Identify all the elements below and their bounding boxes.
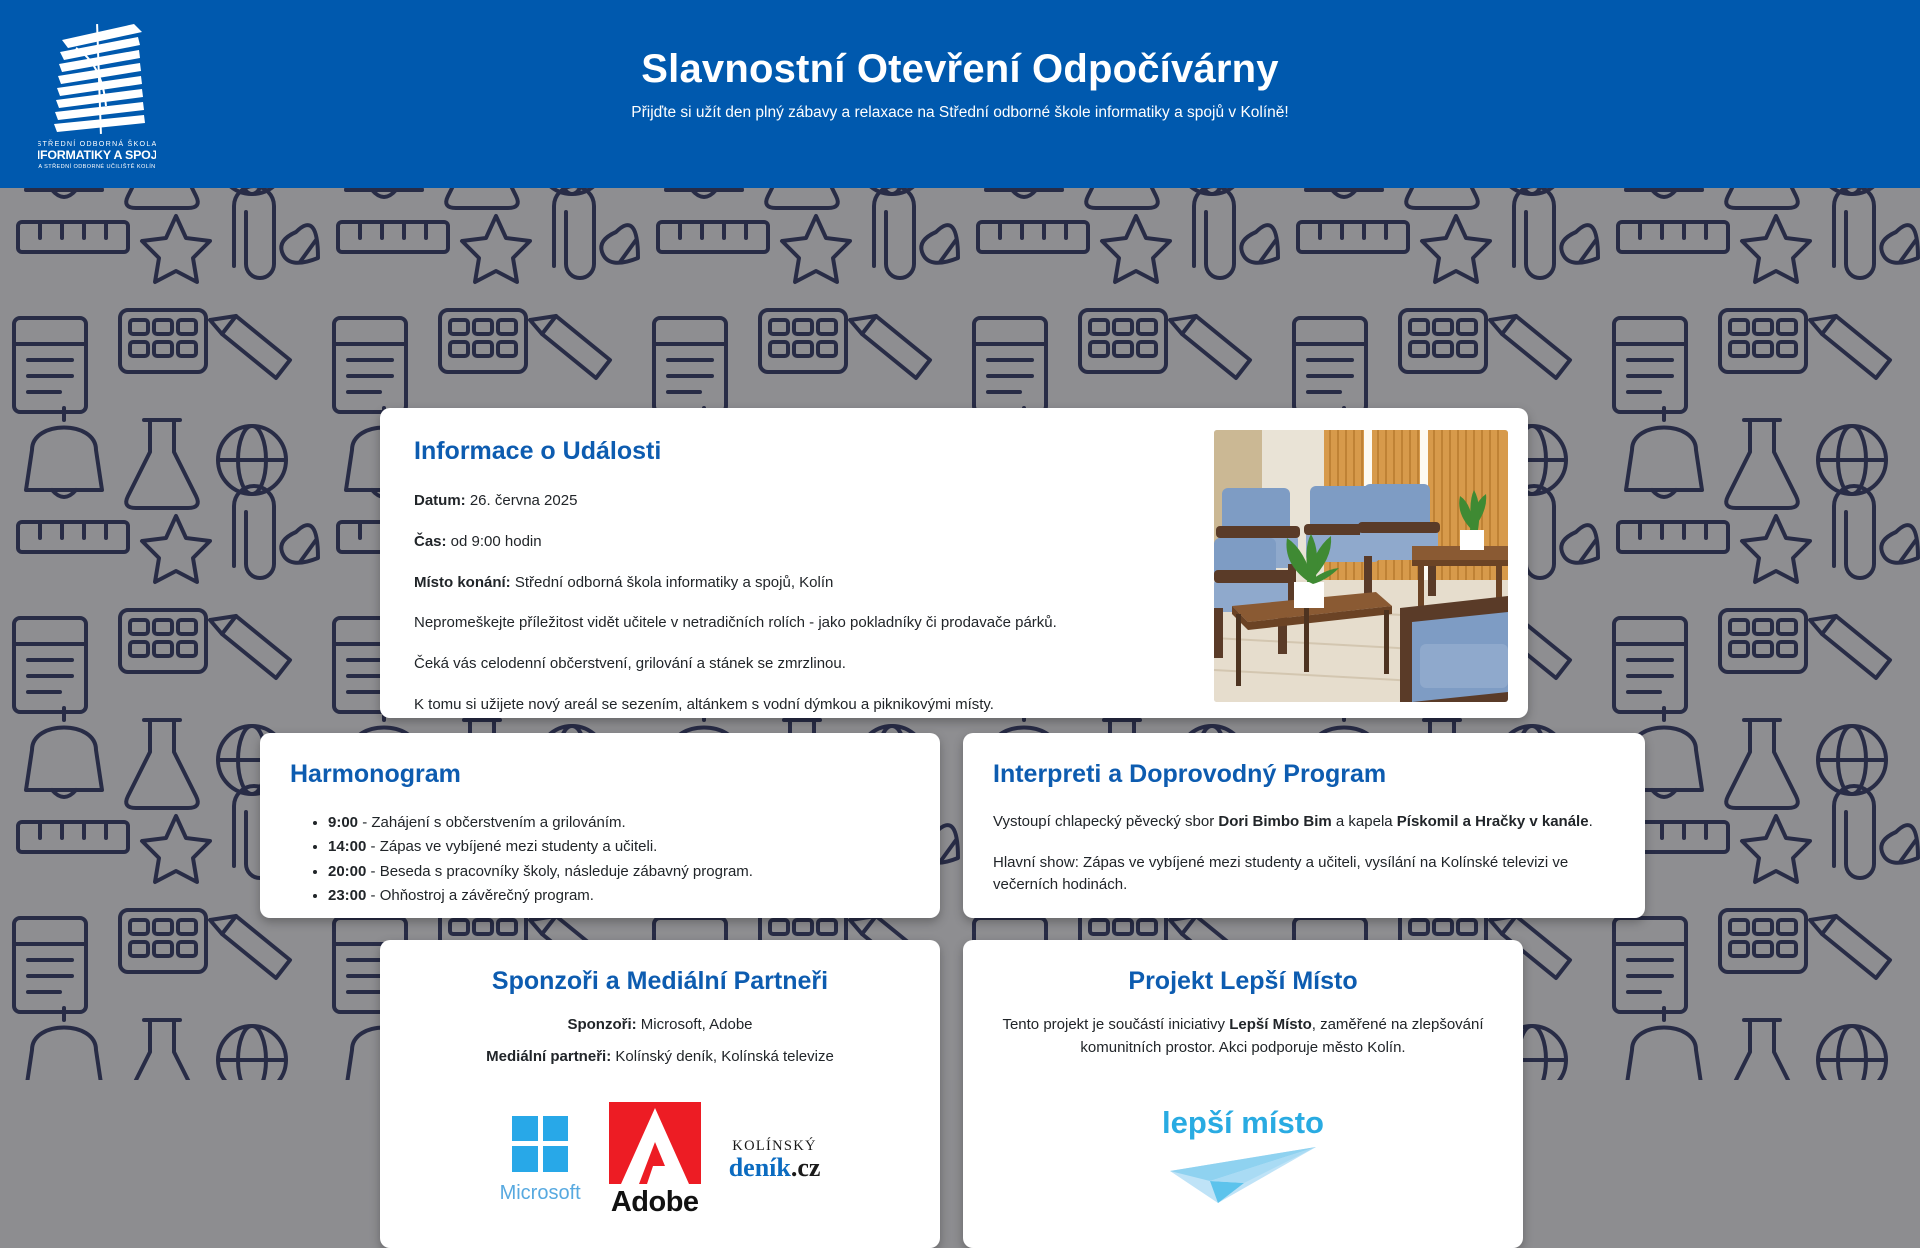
card-project-heading: Projekt Lepší Místo <box>997 966 1489 996</box>
sponsor-logo-row: Microsoft Adobe KOLÍNSKÝ deník.cz <box>410 1102 910 1219</box>
kolinsky-denik-word: deník <box>729 1153 791 1182</box>
schedule-time: 14:00 <box>328 838 366 855</box>
schedule-list: 9:00 - Zahájení s občerstvením a grilová… <box>290 811 910 908</box>
schedule-text: - Ohňostroj a závěrečný program. <box>366 887 594 904</box>
media-partners-value: Kolínský deník, Kolínská televize <box>611 1048 834 1065</box>
schedule-text: - Beseda s pracovníky školy, následuje z… <box>366 863 753 880</box>
microsoft-squares-icon <box>512 1116 568 1172</box>
schedule-time: 23:00 <box>328 887 366 904</box>
event-date-label: Datum: <box>414 492 466 509</box>
event-info-text: Datum: 26. června 2025 Čas: od 9:00 hodi… <box>414 490 1234 716</box>
card-sponsors-heading: Sponzoři a Mediální Partneři <box>410 966 910 996</box>
logo-line-2: INFORMATIKY A SPOJŮ <box>38 146 156 162</box>
kolinsky-denik-tld: .cz <box>791 1153 821 1182</box>
lounge-photo <box>1214 430 1508 702</box>
adobe-logo[interactable]: Adobe <box>609 1102 701 1219</box>
school-logo[interactable]: STŘEDNÍ ODBORNÁ ŠKOLA INFORMATIKY A SPOJ… <box>38 12 156 177</box>
performers-text-a: Vystoupí chlapecký pěvecký sbor <box>993 813 1218 830</box>
schedule-text: - Zápas ve vybíjené mezi studenty a učit… <box>366 838 657 855</box>
performers-text-e: . <box>1589 813 1593 830</box>
card-project: Projekt Lepší Místo Tento projekt je sou… <box>963 940 1523 1248</box>
event-date-row: Datum: 26. června 2025 <box>414 490 1234 512</box>
page-title: Slavnostní Otevření Odpočívárny <box>641 46 1279 92</box>
lepsi-misto-logo[interactable]: lepší místo <box>997 1099 1489 1209</box>
card-schedule: Harmonogram 9:00 - Zahájení s občerstven… <box>260 733 940 918</box>
performers-band-name: Pískomil a Hračky v kanále <box>1397 813 1589 830</box>
event-paragraph-3: K tomu si užijete nový areál se sezením,… <box>414 694 1234 716</box>
performers-choir-name: Dori Bimbo Bim <box>1218 813 1331 830</box>
project-description: Tento projekt je součástí iniciativy Lep… <box>997 1014 1489 1059</box>
card-performers: Interpreti a Doprovodný Program Vystoupí… <box>963 733 1645 918</box>
event-time-label: Čas: <box>414 533 447 550</box>
card-sponsors: Sponzoři a Mediální Partneři Sponzoři: M… <box>380 940 940 1248</box>
performers-text-c: a kapela <box>1332 813 1397 830</box>
lepsi-misto-link[interactable]: Lepší Místo <box>1229 1016 1312 1033</box>
list-item: 14:00 - Zápas ve vybíjené mezi studenty … <box>328 835 910 859</box>
event-venue-row: Místo konání: Střední odborná škola info… <box>414 572 1234 594</box>
card-performers-heading: Interpreti a Doprovodný Program <box>993 759 1615 789</box>
event-paragraph-1: Nepromeškejte příležitost vidět učitele … <box>414 612 1234 634</box>
adobe-a-icon <box>609 1102 701 1184</box>
media-partners-row: Mediální partneři: Kolínský deník, Kolín… <box>410 1046 910 1068</box>
event-time-value: od 9:00 hodin <box>447 533 542 550</box>
media-partners-label: Mediální partneři: <box>486 1048 611 1065</box>
schedule-text: - Zahájení s občerstvením a grilováním. <box>358 814 626 831</box>
kolinsky-denik-logo[interactable]: KOLÍNSKÝ deník.cz <box>729 1139 821 1182</box>
microsoft-logo[interactable]: Microsoft <box>500 1116 581 1205</box>
event-venue-value: Střední odborná škola informatiky a spoj… <box>511 574 834 591</box>
kolinsky-denik-bottom: deník.cz <box>729 1155 821 1181</box>
list-item: 20:00 - Beseda s pracovníky školy, násle… <box>328 860 910 884</box>
event-date-value: 26. června 2025 <box>466 492 578 509</box>
logo-line-3: A STŘEDNÍ ODBORNÉ UČILIŠTĚ KOLÍN <box>38 162 155 170</box>
performers-line-2: Hlavní show: Zápas ve vybíjené mezi stud… <box>993 852 1615 896</box>
event-time-row: Čas: od 9:00 hodin <box>414 531 1234 553</box>
microsoft-wordmark: Microsoft <box>500 1182 581 1205</box>
sponsors-label: Sponzoři: <box>567 1016 636 1033</box>
schedule-time: 20:00 <box>328 863 366 880</box>
sponsors-value: Microsoft, Adobe <box>637 1016 753 1033</box>
performers-line-1: Vystoupí chlapecký pěvecký sbor Dori Bim… <box>993 811 1615 833</box>
event-paragraph-2: Čeká vás celodenní občerstvení, grilován… <box>414 653 1234 675</box>
list-item: 23:00 - Ohňostroj a závěrečný program. <box>328 884 910 908</box>
paper-plane-icon <box>1170 1147 1316 1203</box>
page-subtitle: Přijďte si užít den plný zábavy a relaxa… <box>631 104 1288 122</box>
adobe-wordmark: Adobe <box>611 1186 699 1219</box>
site-header: STŘEDNÍ ODBORNÁ ŠKOLA INFORMATIKY A SPOJ… <box>0 0 1920 188</box>
card-event-info: Informace o Události Datum: 26. června 2… <box>380 408 1528 718</box>
list-item: 9:00 - Zahájení s občerstvením a grilová… <box>328 811 910 835</box>
lepsi-misto-wordmark: lepší místo <box>1162 1105 1324 1140</box>
sponsors-row: Sponzoři: Microsoft, Adobe <box>410 1014 910 1036</box>
kolinsky-denik-top: KOLÍNSKÝ <box>732 1139 817 1154</box>
logo-line-1: STŘEDNÍ ODBORNÁ ŠKOLA <box>38 139 156 148</box>
card-schedule-heading: Harmonogram <box>290 759 910 789</box>
project-text-a: Tento projekt je součástí iniciativy <box>1002 1016 1229 1033</box>
event-venue-label: Místo konání: <box>414 574 511 591</box>
schedule-time: 9:00 <box>328 814 358 831</box>
